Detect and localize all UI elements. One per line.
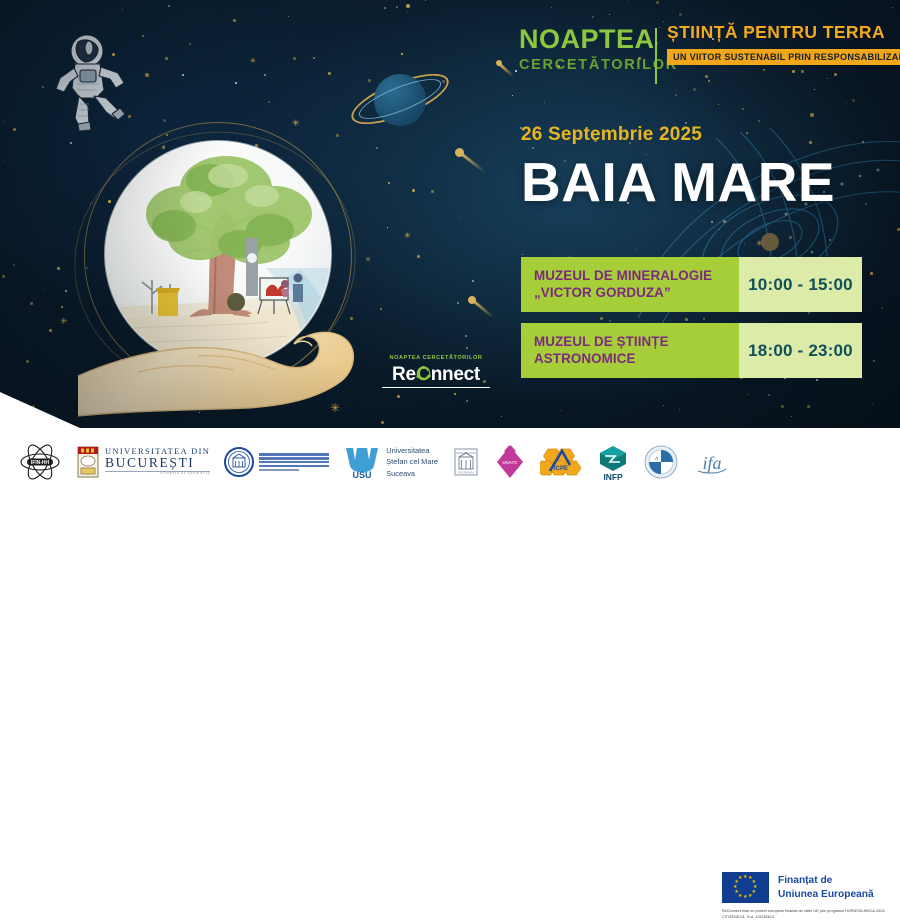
venue-time: 18:00 - 23:00 [739, 323, 862, 378]
icpe-logo: ICPE [540, 443, 582, 481]
funding-disclaimer: ReConnect este un proiect european finan… [722, 909, 897, 920]
venue-time: 10:00 - 15:00 [739, 257, 862, 312]
reconnect-top-text: NOAPTEA CERCETĂTORILOR [382, 356, 490, 362]
svg-text:INFP: INFP [603, 472, 622, 482]
venue-name: MUZEUL DE ȘTIINȚE ASTRONOMICE [521, 323, 739, 378]
eu-funding-text: Finanțat de Uniunea Europeană [778, 874, 874, 902]
usu-logo: USU Universitatea Ștefan cel Mare Suceav… [343, 444, 438, 480]
tagline-block: ȘTIINȚĂ PENTRU TERRA UN VIITOR SUSTENABI… [667, 24, 900, 65]
venue-line-1: MUZEUL DE MINERALOGIE [534, 268, 739, 285]
tagline-banner: UN VIITOR SUSTENABIL PRIN RESPONSABILIZA… [667, 49, 900, 65]
reconnect-underline [382, 387, 490, 389]
tagline-text: ȘTIINȚĂ PENTRU TERRA [667, 24, 900, 42]
schedule-list: MUZEUL DE MINERALOGIE „VICTOR GORDUZA” 1… [521, 257, 862, 389]
eu-funding-block: ★★★★★★★★★★★★ Finanțat de Uniunea Europea… [722, 872, 874, 903]
universitatea-bucuresti-logo: UNIVERSITATEA DIN BUCUREȘTI SCIENTIA ET … [76, 445, 210, 479]
footer: IFIN-HH UNIVERSITATEA DIN BUCUREȘTI [0, 428, 900, 506]
ifin-hh-logo: IFIN-HH [18, 442, 62, 482]
sparkle-icon: ✳ [250, 58, 256, 65]
reconnect-c-circle: C [416, 365, 431, 384]
sparkle-icon: ✳ [404, 232, 411, 240]
venue-line-1: MUZEUL DE ȘTIINȚE [534, 334, 739, 351]
reconnect-name-part1: Re [392, 364, 416, 385]
reconnect-name: ReCnnect [392, 365, 480, 384]
alexandru-ioan-cuza-logo [224, 447, 329, 477]
svg-text:R: R [663, 466, 667, 471]
reconnect-name-part3: nnect [431, 364, 480, 385]
svg-text:POLITEHNICA: POLITEHNICA [458, 472, 474, 475]
academia-logo: A R [644, 445, 678, 479]
universitatea-politehnica-logo: UNIVERSITATEA POLITEHNICA [452, 446, 480, 478]
uaic-text [259, 453, 329, 471]
event-city: BAIA MARE [521, 154, 835, 212]
schedule-row[interactable]: MUZEUL DE MINERALOGIE „VICTOR GORDUZA” 1… [521, 257, 862, 312]
schedule-row[interactable]: MUZEUL DE ȘTIINȚE ASTRONOMICE 18:00 - 23… [521, 323, 862, 378]
sparkle-icon: ✳ [60, 318, 68, 327]
event-date: 26 Septembrie 2025 [521, 124, 702, 146]
ifa-logo: ifa [692, 447, 732, 477]
svg-text:ifa: ifa [703, 453, 722, 473]
ub-text: UNIVERSITATEA DIN BUCUREȘTI SCIENTIA ET … [105, 448, 210, 475]
svg-text:UNATC: UNATC [502, 460, 518, 465]
partner-logos: IFIN-HH UNIVERSITATEA DIN BUCUREȘTI [18, 436, 668, 488]
unatc-logo: UNATC [494, 444, 526, 480]
brand-wordmark: NOAPTEA CERCETĂTORILOR [519, 26, 678, 73]
venue-line-2: ASTRONOMICE [534, 351, 739, 368]
svg-text:IFIN-HH: IFIN-HH [31, 460, 50, 466]
usu-text: Universitatea Ștefan cel Mare Suceava [386, 445, 438, 479]
svg-text:ICPE: ICPE [554, 466, 568, 472]
infp-logo: INFP [596, 442, 630, 482]
venue-line-2: „VICTOR GORDUZA” [534, 285, 739, 302]
eu-flag-icon: ★★★★★★★★★★★★ [722, 872, 769, 903]
poster: ✳✳✳✳✳✳✳ [0, 0, 900, 506]
reconnect-logo: NOAPTEA CERCETĂTORILOR ReCnnect [382, 356, 490, 388]
hand-holding-earth-illustration [78, 118, 368, 418]
wordmark-divider [655, 28, 657, 84]
svg-text:USU: USU [353, 470, 372, 480]
venue-name: MUZEUL DE MINERALOGIE „VICTOR GORDUZA” [521, 257, 739, 312]
